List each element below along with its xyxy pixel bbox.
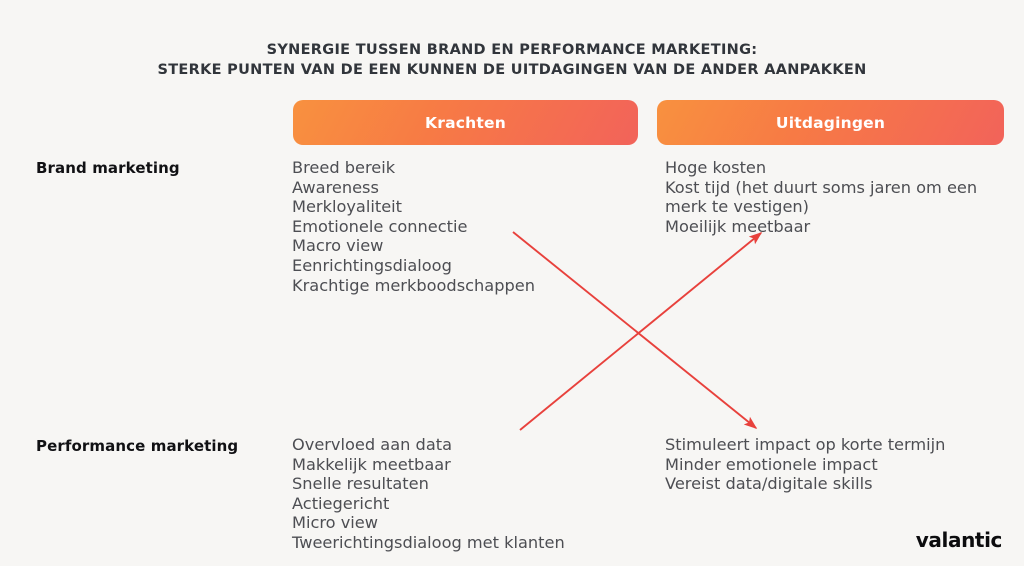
list-item: Emotionele connectie [292,217,622,237]
slide-canvas: SYNERGIE TUSSEN BRAND EN PERFORMANCE MAR… [0,0,1024,566]
row-label-performance-marketing: Performance marketing [36,437,238,455]
list-brand-marketing-strengths: Breed bereikAwarenessMerkloyaliteitEmoti… [292,158,622,295]
page-title: SYNERGIE TUSSEN BRAND EN PERFORMANCE MAR… [0,40,1024,80]
list-item: Snelle resultaten [292,474,632,494]
list-item: Moeilijk meetbaar [665,217,995,237]
column-header-strengths-label: Krachten [425,114,506,132]
list-item: Minder emotionele impact [665,455,995,475]
list-item: Awareness [292,178,622,198]
list-item: Vereist data/digitale skills [665,474,995,494]
column-header-strengths: Krachten [293,100,638,145]
list-item: Merkloyaliteit [292,197,622,217]
list-item: Kost tijd (het duurt soms jaren om een m… [665,178,995,217]
list-item: Hoge kosten [665,158,995,178]
title-line-2: STERKE PUNTEN VAN DE EEN KUNNEN DE UITDA… [0,60,1024,80]
column-header-challenges-label: Uitdagingen [776,114,885,132]
list-brand-marketing-challenges: Hoge kostenKost tijd (het duurt soms jar… [665,158,995,236]
list-item: Krachtige merkboodschappen [292,276,622,296]
row-label-brand-marketing: Brand marketing [36,159,180,177]
list-item: Macro view [292,236,622,256]
title-line-1: SYNERGIE TUSSEN BRAND EN PERFORMANCE MAR… [0,40,1024,60]
list-item: Makkelijk meetbaar [292,455,632,475]
list-item: Overvloed aan data [292,435,632,455]
valantic-logo: valantic [916,528,1002,552]
list-item: Stimuleert impact op korte termijn [665,435,995,455]
list-performance-marketing-strengths: Overvloed aan dataMakkelijk meetbaarSnel… [292,435,632,553]
list-item: Breed bereik [292,158,622,178]
list-item: Eenrichtingsdialoog [292,256,622,276]
list-performance-marketing-challenges: Stimuleert impact op korte termijnMinder… [665,435,995,494]
list-item: Actiegericht [292,494,632,514]
list-item: Micro view [292,513,632,533]
column-header-challenges: Uitdagingen [657,100,1004,145]
list-item: Tweerichtingsdialoog met klanten [292,533,632,553]
